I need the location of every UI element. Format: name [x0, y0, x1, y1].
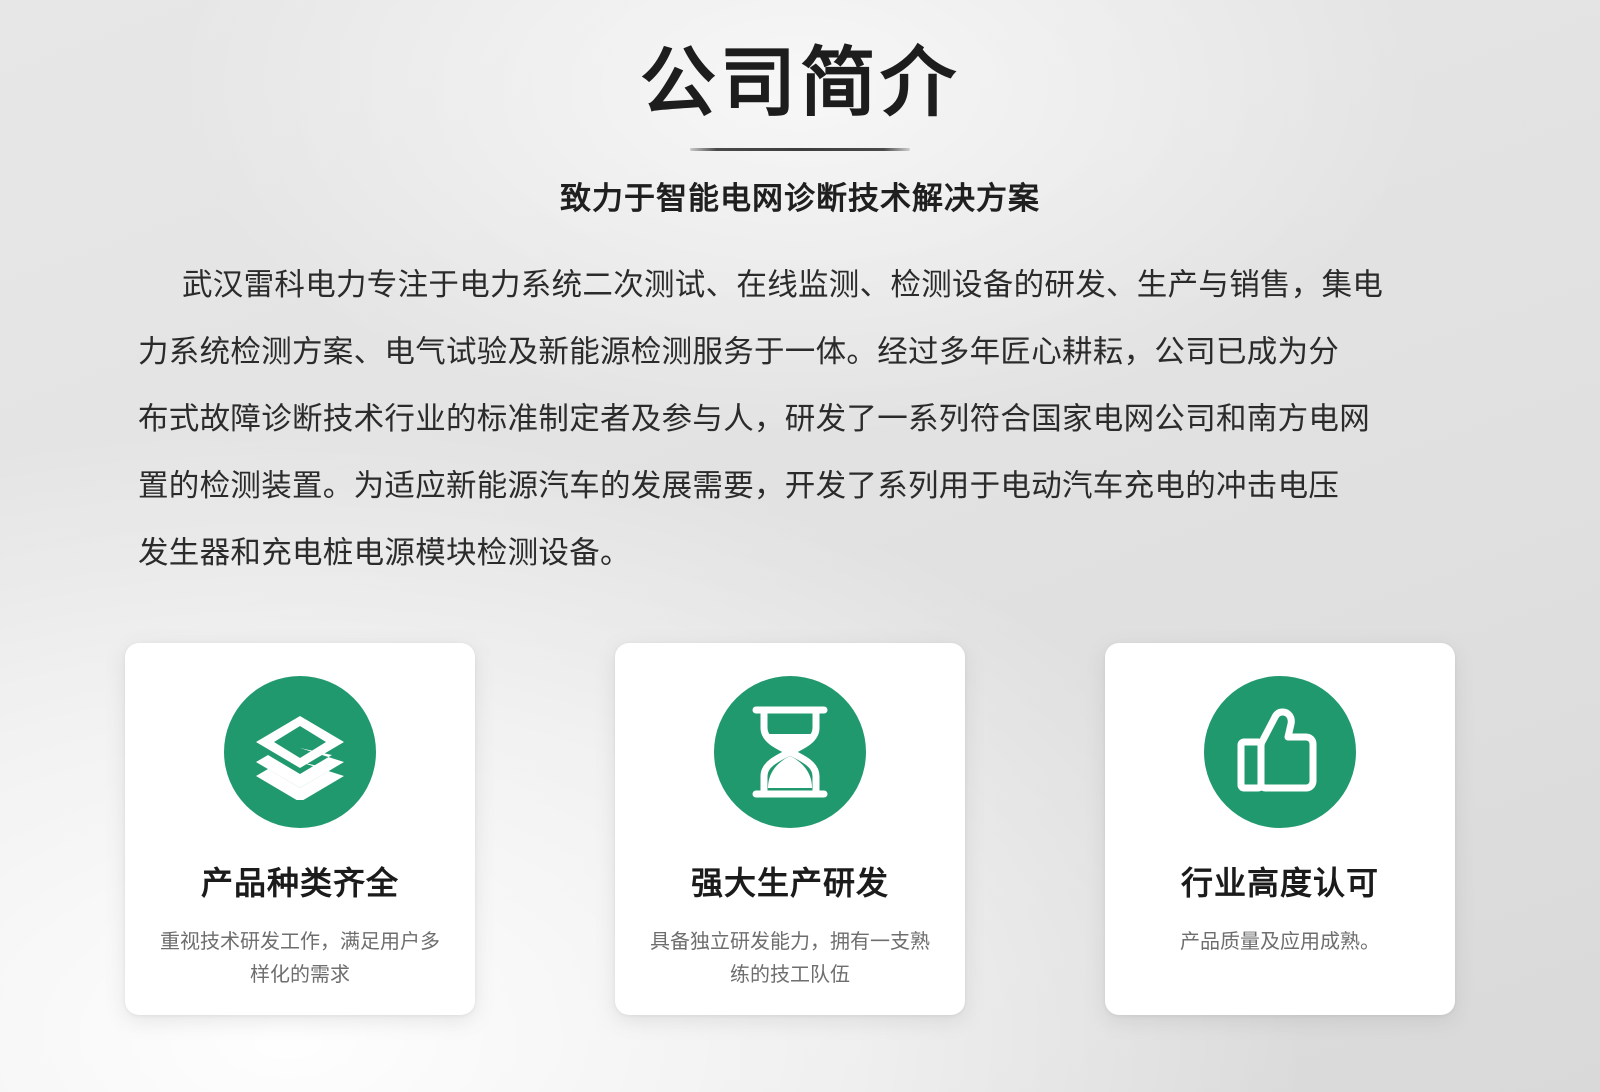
thumbs-up-icon — [1234, 706, 1326, 798]
company-intro-paragraph: 武汉雷科电力专注于电力系统二次测试、在线监测、检测设备的研发、生产与销售，集电 … — [138, 252, 1456, 587]
feature-card[interactable]: 产品种类齐全 重视技术研发工作，满足用户多样化的需求 — [125, 643, 475, 1015]
layers-icon — [252, 704, 348, 800]
feature-card[interactable]: 强大生产研发 具备独立研发能力，拥有一支熟练的技工队伍 — [615, 643, 965, 1015]
feature-card-title: 行业高度认可 — [1181, 858, 1379, 904]
page-background: 公司简介 致力于智能电网诊断技术解决方案 武汉雷科电力专注于电力系统二次测试、在… — [0, 0, 1600, 1092]
feature-card-list: 产品种类齐全 重视技术研发工作，满足用户多样化的需求 — [125, 643, 1455, 1015]
intro-line: 布式故障诊断技术行业的标准制定者及参与人，研发了一系列符合国家电网公司和南方电网 — [138, 386, 1456, 453]
hourglass-icon — [748, 704, 832, 800]
feature-card-title: 产品种类齐全 — [201, 858, 399, 904]
feature-card-desc: 重视技术研发工作，满足用户多样化的需求 — [155, 926, 445, 992]
page-title: 公司简介 — [0, 0, 1600, 122]
feature-card-desc: 产品质量及应用成熟。 — [1135, 926, 1425, 959]
icon-badge — [714, 676, 866, 828]
intro-line: 武汉雷科电力专注于电力系统二次测试、在线监测、检测设备的研发、生产与销售，集电 — [138, 252, 1456, 319]
feature-card-title: 强大生产研发 — [691, 858, 889, 904]
intro-line: 置的检测装置。为适应新能源汽车的发展需要，开发了系列用于电动汽车充电的冲击电压 — [138, 453, 1456, 520]
intro-line: 力系统检测方案、电气试验及新能源检测服务于一体。经过多年匠心耕耘，公司已成为分 — [138, 319, 1456, 386]
page-header: 公司简介 致力于智能电网诊断技术解决方案 — [0, 0, 1600, 218]
feature-card-desc: 具备独立研发能力，拥有一支熟练的技工队伍 — [645, 926, 935, 992]
page-subtitle: 致力于智能电网诊断技术解决方案 — [0, 151, 1600, 218]
intro-line: 发生器和充电桩电源模块检测设备。 — [138, 520, 1456, 587]
icon-badge — [224, 676, 376, 828]
feature-card[interactable]: 行业高度认可 产品质量及应用成熟。 — [1105, 643, 1455, 1015]
icon-badge — [1204, 676, 1356, 828]
